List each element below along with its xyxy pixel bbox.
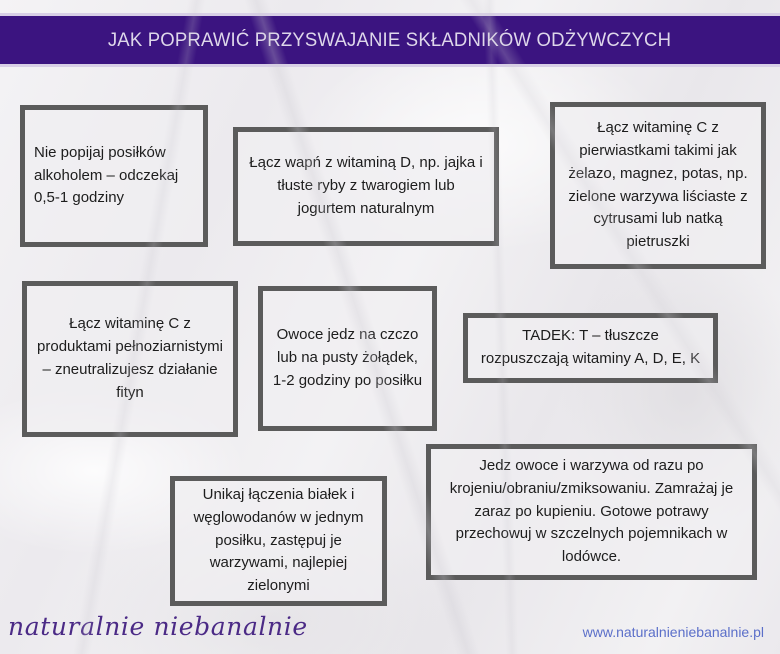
tip-text: Nie popijaj posiłków alkoholem – odczeka…	[34, 142, 194, 210]
tip-box-vitamin-c-wholegrain: Łącz witaminę C z produktami pełnoziarni…	[22, 281, 238, 437]
tip-text: Łącz witaminę C z produktami pełnoziarni…	[36, 313, 224, 404]
page-title: JAK POPRAWIĆ PRZYSWAJANIE SKŁADNIKÓW ODŻ…	[108, 29, 671, 52]
infographic-canvas: JAK POPRAWIĆ PRZYSWAJANIE SKŁADNIKÓW ODŻ…	[0, 0, 780, 654]
header-banner: JAK POPRAWIĆ PRZYSWAJANIE SKŁADNIKÓW ODŻ…	[0, 13, 780, 67]
tip-text: Łącz wapń z witaminą D, np. jajka i tłus…	[247, 152, 485, 220]
tip-text: Unikaj łączenia białek i węglowodanów w …	[184, 484, 373, 598]
tip-text: Owoce jedz na czczo lub na pusty żołądek…	[272, 324, 423, 392]
tip-box-vitamin-c-minerals: Łącz witaminę C z pierwiastkami takimi j…	[550, 102, 766, 269]
brand-logo: naturalnie niebanalnie	[8, 612, 308, 641]
tip-box-tadek-fat-soluble: TADEK: T – tłuszcze rozpuszczają witamin…	[463, 313, 718, 383]
tip-text: Łącz witaminę C z pierwiastkami takimi j…	[564, 117, 752, 254]
tip-box-protein-carbs: Unikaj łączenia białek i węglowodanów w …	[170, 476, 387, 606]
tip-text: TADEK: T – tłuszcze rozpuszczają witamin…	[477, 325, 704, 371]
tip-box-fruit-empty-stomach: Owoce jedz na czczo lub na pusty żołądek…	[258, 286, 437, 431]
tip-box-storage: Jedz owoce i warzywa od razu po krojeniu…	[426, 444, 757, 580]
website-url-link[interactable]: www.naturalnieniebanalnie.pl	[583, 624, 764, 640]
header-banner-bar: JAK POPRAWIĆ PRZYSWAJANIE SKŁADNIKÓW ODŻ…	[0, 16, 780, 64]
tip-text: Jedz owoce i warzywa od razu po krojeniu…	[440, 455, 743, 569]
tip-box-alcohol: Nie popijaj posiłków alkoholem – odczeka…	[20, 105, 208, 247]
tip-box-calcium-vitamin-d: Łącz wapń z witaminą D, np. jajka i tłus…	[233, 127, 499, 246]
